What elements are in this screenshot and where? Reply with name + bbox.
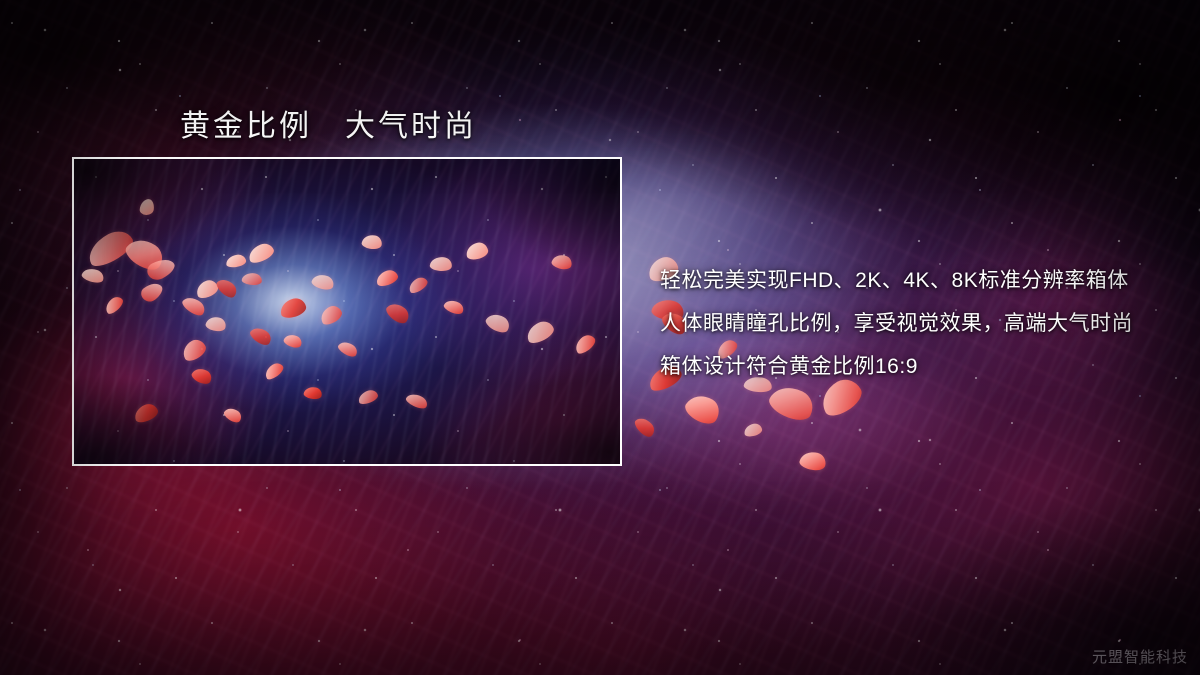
- page-title: 黄金比例 大气时尚: [180, 101, 477, 145]
- brand-watermark: 元盟智能科技: [1092, 646, 1188, 667]
- feature-line-3: 箱体设计符合黄金比例16:9: [660, 345, 1180, 388]
- panel-vignette: [74, 159, 620, 464]
- feature-line-2: 人体眼睛瞳孔比例，享受视觉效果，高端大气时尚: [660, 302, 1180, 345]
- slide-root: 黄金比例 大气时尚 轻松完美实现FHD、2K、4K、8K标准分辨率箱体 人体眼睛…: [0, 0, 1200, 675]
- feature-description-block: 轻松完美实现FHD、2K、4K、8K标准分辨率箱体 人体眼睛瞳孔比例，享受视觉效…: [660, 259, 1180, 388]
- framed-image-panel[interactable]: [72, 157, 622, 466]
- feature-line-1: 轻松完美实现FHD、2K、4K、8K标准分辨率箱体: [660, 259, 1180, 302]
